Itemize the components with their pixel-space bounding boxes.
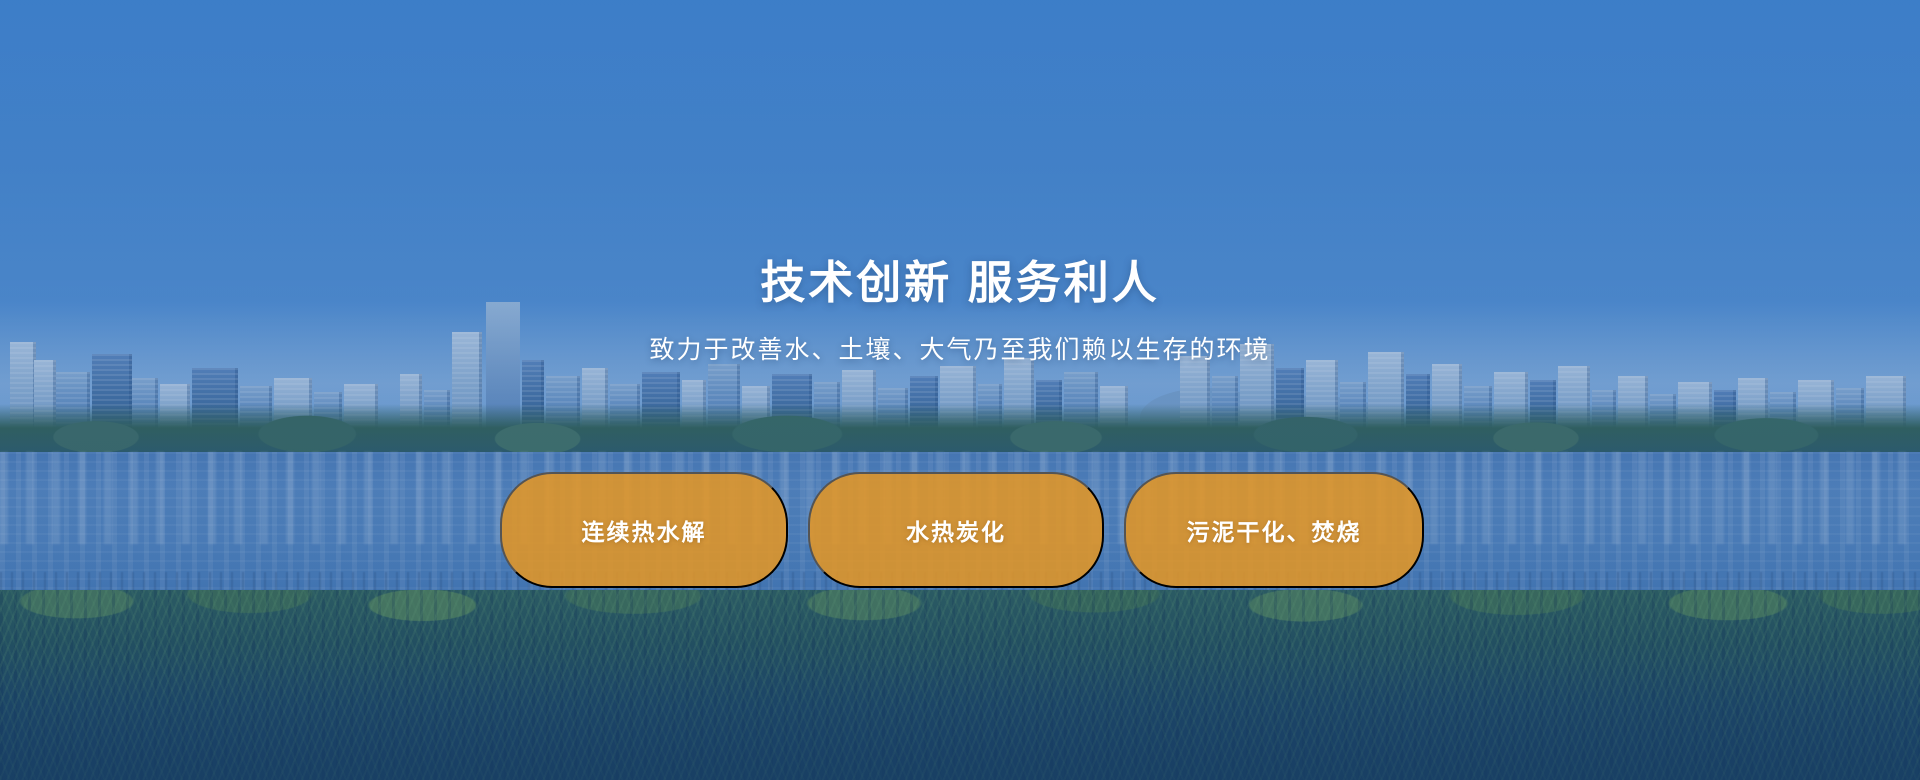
page-subtitle: 致力于改善水、土壤、大气乃至我们赖以生存的环境 xyxy=(0,330,1920,366)
vegetation-shadow xyxy=(0,660,1920,780)
cta-button-sludge-drying-incineration[interactable]: 污泥干化、焚烧 xyxy=(1124,472,1424,588)
hero-copy: 技术创新 服务利人 致力于改善水、土壤、大气乃至我们赖以生存的环境 xyxy=(0,258,1920,366)
cta-button-row: 连续热水解 水热炭化 污泥干化、焚烧 xyxy=(500,472,1424,588)
cta-button-continuous-thermal-hydrolysis[interactable]: 连续热水解 xyxy=(500,472,788,588)
page-title: 技术创新 服务利人 xyxy=(0,258,1920,308)
foreground-vegetation xyxy=(0,590,1920,780)
cta-button-hydrothermal-carbonization[interactable]: 水热炭化 xyxy=(808,472,1104,588)
hero-banner: 技术创新 服务利人 致力于改善水、土壤、大气乃至我们赖以生存的环境 连续热水解 … xyxy=(0,0,1920,780)
